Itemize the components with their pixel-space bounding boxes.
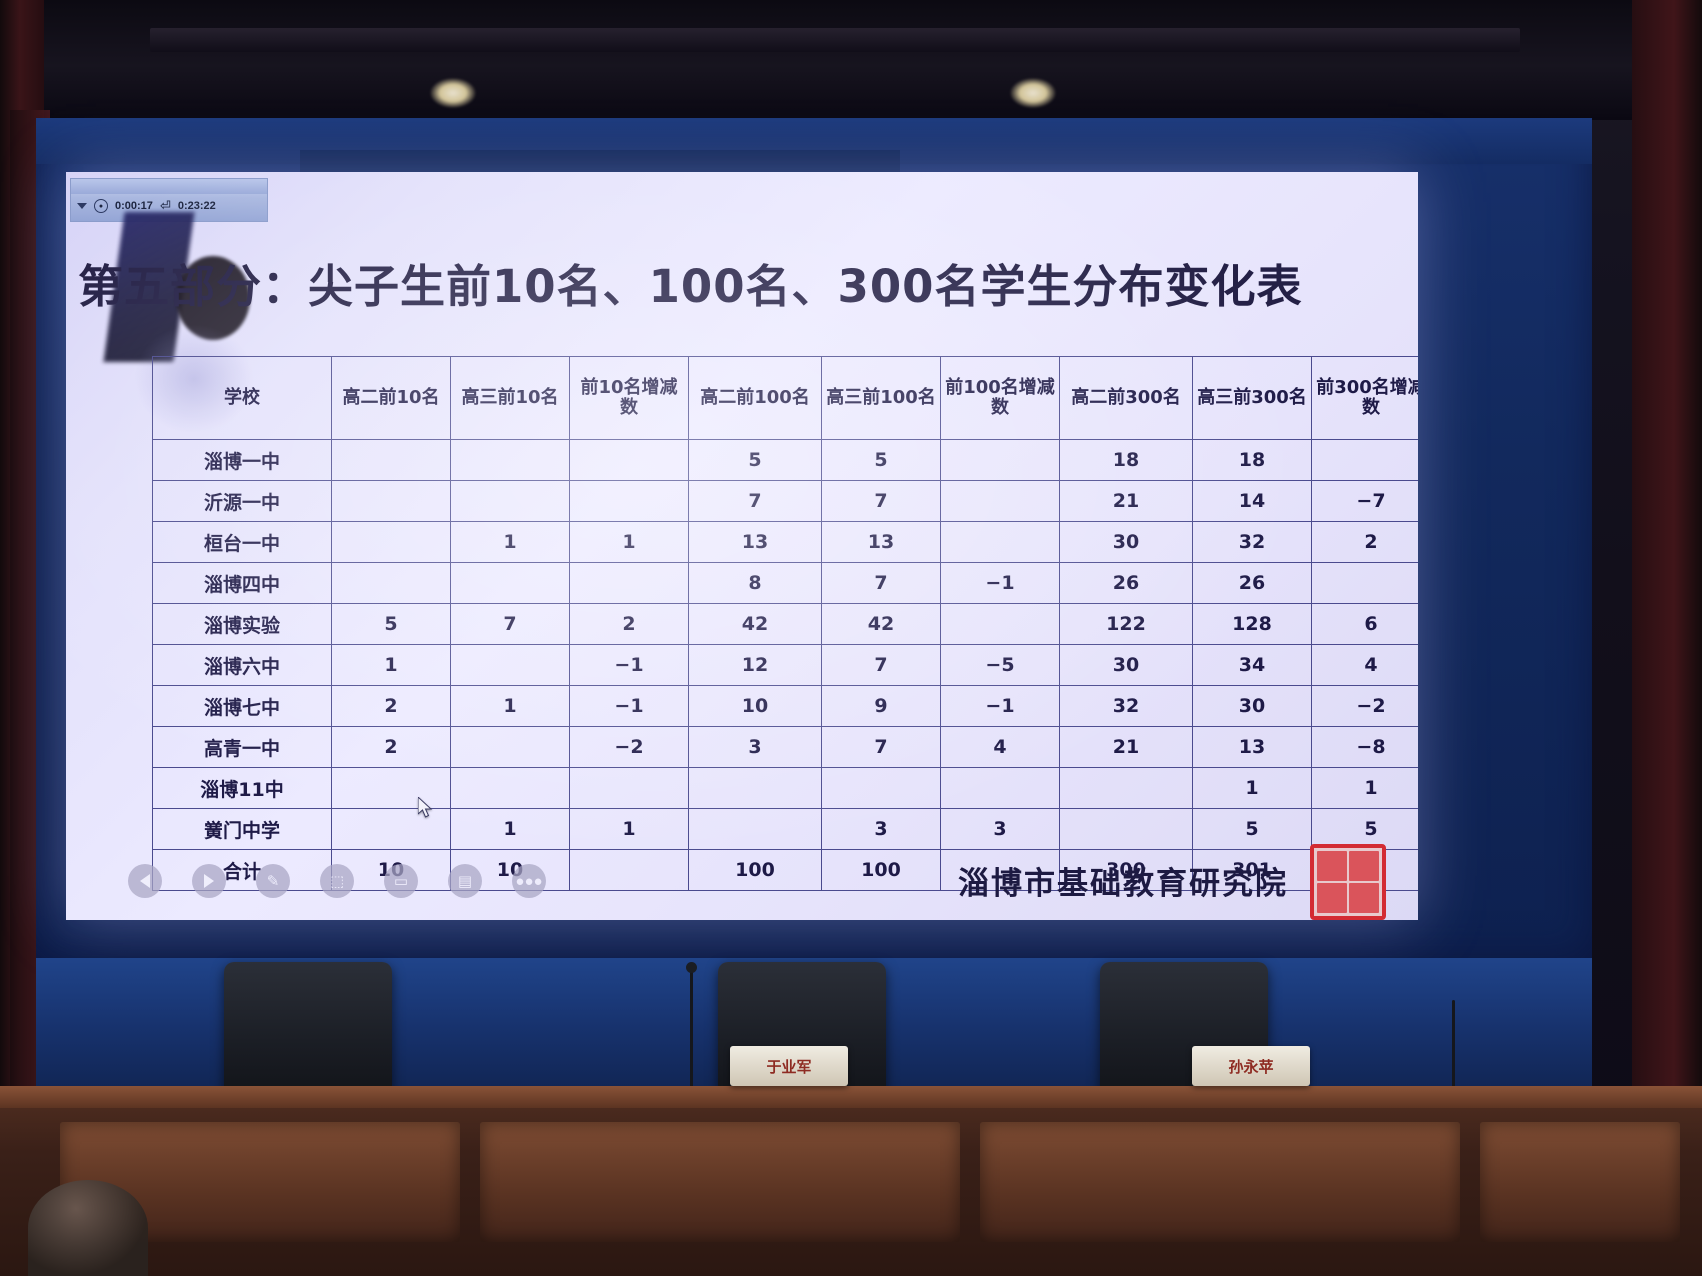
cell-value: 2 <box>570 604 689 645</box>
table-row: 淄博一中551818 <box>153 440 1419 481</box>
col-header-g3-top300: 高三前300名 <box>1193 357 1312 440</box>
cell-value <box>941 522 1060 563</box>
nameplate-left: 于业军 <box>730 1046 848 1086</box>
microphone-head <box>686 962 697 973</box>
distribution-table: 学校 高二前10名 高三前10名 前10名增减数 高二前100名 高三前100名… <box>152 356 1418 891</box>
cell-value <box>689 809 822 850</box>
cell-value <box>941 440 1060 481</box>
cell-value: 128 <box>1193 604 1312 645</box>
cell-value <box>451 440 570 481</box>
player-current-time: 0:00:17 <box>115 200 153 212</box>
table-row: 黉门中学113355 <box>153 809 1419 850</box>
col-header-delta100: 前100名增减数 <box>941 357 1060 440</box>
cell-value: 18 <box>1193 440 1312 481</box>
desk-panel <box>980 1122 1460 1242</box>
cell-value <box>570 768 689 809</box>
cell-value <box>332 522 451 563</box>
table-row: 淄博11中11 <box>153 768 1419 809</box>
cell-value <box>332 440 451 481</box>
cell-value <box>570 481 689 522</box>
cell-value <box>570 850 689 891</box>
cell-school-name: 高青一中 <box>153 727 332 768</box>
note-tool-button[interactable]: ▤ <box>448 864 482 898</box>
cell-value <box>451 645 570 686</box>
cell-value <box>451 481 570 522</box>
cell-value: 4 <box>941 727 1060 768</box>
cell-value: 42 <box>689 604 822 645</box>
table-row: 淄博六中1−1127−530344 <box>153 645 1419 686</box>
cell-school-name: 淄博实验 <box>153 604 332 645</box>
cell-school-name: 黉门中学 <box>153 809 332 850</box>
cell-value: 34 <box>1193 645 1312 686</box>
projection-screen: ● 0:00:17 ⏎ 0:23:22 第五部分：尖子生前10名、100名、30… <box>66 172 1418 920</box>
table-row: 淄博实验57242421221286 <box>153 604 1419 645</box>
cell-value: −5 <box>941 645 1060 686</box>
more-options-button[interactable]: ●●● <box>512 864 546 898</box>
cell-value: 1 <box>451 809 570 850</box>
cell-value: 13 <box>1193 727 1312 768</box>
microphone-stand <box>690 968 693 1088</box>
cell-value <box>941 604 1060 645</box>
cell-value: 6 <box>1312 604 1419 645</box>
col-header-delta10: 前10名增减数 <box>570 357 689 440</box>
cell-value <box>570 563 689 604</box>
cell-school-name: 淄博四中 <box>153 563 332 604</box>
cell-value: 5 <box>689 440 822 481</box>
previous-slide-button[interactable] <box>128 864 162 898</box>
next-slide-button[interactable] <box>192 864 226 898</box>
cell-value: 2 <box>1312 522 1419 563</box>
cell-value: 7 <box>822 563 941 604</box>
player-total-time: 0:23:22 <box>178 200 216 212</box>
col-header-delta300: 前300名增减数 <box>1312 357 1419 440</box>
table-body: 淄博一中551818沂源一中772114−7桓台一中11131330322淄博四… <box>153 440 1419 891</box>
cell-value: 4 <box>1312 645 1419 686</box>
spotlight-tool-button[interactable]: ⬚ <box>320 864 354 898</box>
organization-watermark: 淄博市基础教育研究院 <box>958 858 1288 903</box>
cell-value <box>1060 809 1193 850</box>
cell-value: 1 <box>570 809 689 850</box>
cell-value <box>332 563 451 604</box>
cell-value: 1 <box>1193 768 1312 809</box>
cell-school-name: 淄博七中 <box>153 686 332 727</box>
loop-icon[interactable]: ⏎ <box>160 198 171 214</box>
cell-value: 13 <box>689 522 822 563</box>
presentation-toolbar[interactable]: ✎ ⬚ ▭ ▤ ●●● <box>128 864 546 898</box>
cell-value: 1 <box>451 522 570 563</box>
cell-value: −1 <box>570 645 689 686</box>
cell-value: 32 <box>1060 686 1193 727</box>
pen-tool-button[interactable]: ✎ <box>256 864 290 898</box>
cell-value: 13 <box>822 522 941 563</box>
cell-value: 5 <box>822 440 941 481</box>
cell-value: 7 <box>822 481 941 522</box>
desk-panel <box>480 1122 960 1242</box>
cell-school-name: 桓台一中 <box>153 522 332 563</box>
cell-value <box>451 727 570 768</box>
cell-value: 32 <box>1193 522 1312 563</box>
cell-value: 7 <box>822 727 941 768</box>
cell-value: 30 <box>1060 645 1193 686</box>
cell-value <box>1060 768 1193 809</box>
cell-value: 26 <box>1060 563 1193 604</box>
audience-head <box>28 1180 148 1276</box>
desk-top-edge <box>0 1086 1702 1108</box>
cell-value: 1 <box>332 645 451 686</box>
slide-title: 第五部分：尖子生前10名、100名、300名学生分布变化表 <box>78 250 1408 315</box>
col-header-g3-top100: 高三前100名 <box>822 357 941 440</box>
cell-value: 42 <box>822 604 941 645</box>
cell-value <box>822 768 941 809</box>
cell-value <box>689 768 822 809</box>
cell-value: 1 <box>570 522 689 563</box>
cell-value: 1 <box>451 686 570 727</box>
col-header-school: 学校 <box>153 357 332 440</box>
cell-value: 7 <box>822 645 941 686</box>
col-header-g2-top300: 高二前300名 <box>1060 357 1193 440</box>
cell-school-name: 淄博11中 <box>153 768 332 809</box>
cell-value: 100 <box>689 850 822 891</box>
cell-value <box>941 768 1060 809</box>
col-header-g2-top10: 高二前10名 <box>332 357 451 440</box>
cell-value: 3 <box>822 809 941 850</box>
table-row: 淄博七中21−1109−13230−2 <box>153 686 1419 727</box>
ceiling <box>0 0 1702 120</box>
cell-value: −7 <box>1312 481 1419 522</box>
cell-value: 2 <box>332 686 451 727</box>
video-tool-button[interactable]: ▭ <box>384 864 418 898</box>
cell-value <box>451 563 570 604</box>
cell-value: 5 <box>332 604 451 645</box>
cell-value: 10 <box>689 686 822 727</box>
table-row: 高青一中2−23742113−8 <box>153 727 1419 768</box>
col-header-g2-top100: 高二前100名 <box>689 357 822 440</box>
table-header-row: 学校 高二前10名 高三前10名 前10名增减数 高二前100名 高三前100名… <box>153 357 1419 440</box>
table-row: 淄博四中87−12626 <box>153 563 1419 604</box>
cell-value <box>1312 563 1419 604</box>
cell-value: 5 <box>1193 809 1312 850</box>
cell-value <box>570 440 689 481</box>
cell-value: 30 <box>1060 522 1193 563</box>
microphone-stand <box>1452 1000 1455 1088</box>
cell-value: 100 <box>822 850 941 891</box>
cell-value: 8 <box>689 563 822 604</box>
cell-value: 3 <box>941 809 1060 850</box>
cell-value: −1 <box>570 686 689 727</box>
cell-value: 30 <box>1193 686 1312 727</box>
conference-room-photo: ● 0:00:17 ⏎ 0:23:22 第五部分：尖子生前10名、100名、30… <box>0 0 1702 1276</box>
cell-value: 122 <box>1060 604 1193 645</box>
cell-value: 26 <box>1193 563 1312 604</box>
ceiling-light <box>1010 78 1056 108</box>
cell-value: −2 <box>1312 686 1419 727</box>
cell-value: 12 <box>689 645 822 686</box>
cell-value: 7 <box>689 481 822 522</box>
ceiling-beam <box>150 28 1520 52</box>
table-row: 沂源一中772114−7 <box>153 481 1419 522</box>
table-row: 桓台一中11131330322 <box>153 522 1419 563</box>
cell-value: −8 <box>1312 727 1419 768</box>
cell-school-name: 沂源一中 <box>153 481 332 522</box>
cell-value: 9 <box>822 686 941 727</box>
desk-panel <box>1480 1122 1680 1242</box>
cell-school-name: 淄博六中 <box>153 645 332 686</box>
media-player-controls[interactable]: ● 0:00:17 ⏎ 0:23:22 <box>70 178 268 222</box>
record-icon[interactable]: ● <box>94 199 108 213</box>
cell-value: −2 <box>570 727 689 768</box>
nameplate-right: 孙永苹 <box>1192 1046 1310 1086</box>
cell-value: 14 <box>1193 481 1312 522</box>
cell-value <box>1312 440 1419 481</box>
chevron-down-icon[interactable] <box>77 203 87 209</box>
cell-school-name: 淄博一中 <box>153 440 332 481</box>
cell-value: −1 <box>941 686 1060 727</box>
cell-value: 21 <box>1060 727 1193 768</box>
player-title-bar <box>71 179 267 194</box>
red-seal-icon <box>1310 844 1386 920</box>
cell-value: 1 <box>1312 768 1419 809</box>
cell-value: 3 <box>689 727 822 768</box>
ceiling-light <box>430 78 476 108</box>
right-wall <box>1632 0 1702 1276</box>
cell-value: −1 <box>941 563 1060 604</box>
cell-value: 21 <box>1060 481 1193 522</box>
cell-value <box>941 481 1060 522</box>
chair <box>224 962 392 1094</box>
cell-value <box>451 768 570 809</box>
cell-value: 2 <box>332 727 451 768</box>
cell-value: 7 <box>451 604 570 645</box>
distribution-table-wrap: 学校 高二前10名 高三前10名 前10名增减数 高二前100名 高三前100名… <box>152 356 1332 891</box>
col-header-g3-top10: 高三前10名 <box>451 357 570 440</box>
cell-value <box>332 481 451 522</box>
cell-value: 18 <box>1060 440 1193 481</box>
